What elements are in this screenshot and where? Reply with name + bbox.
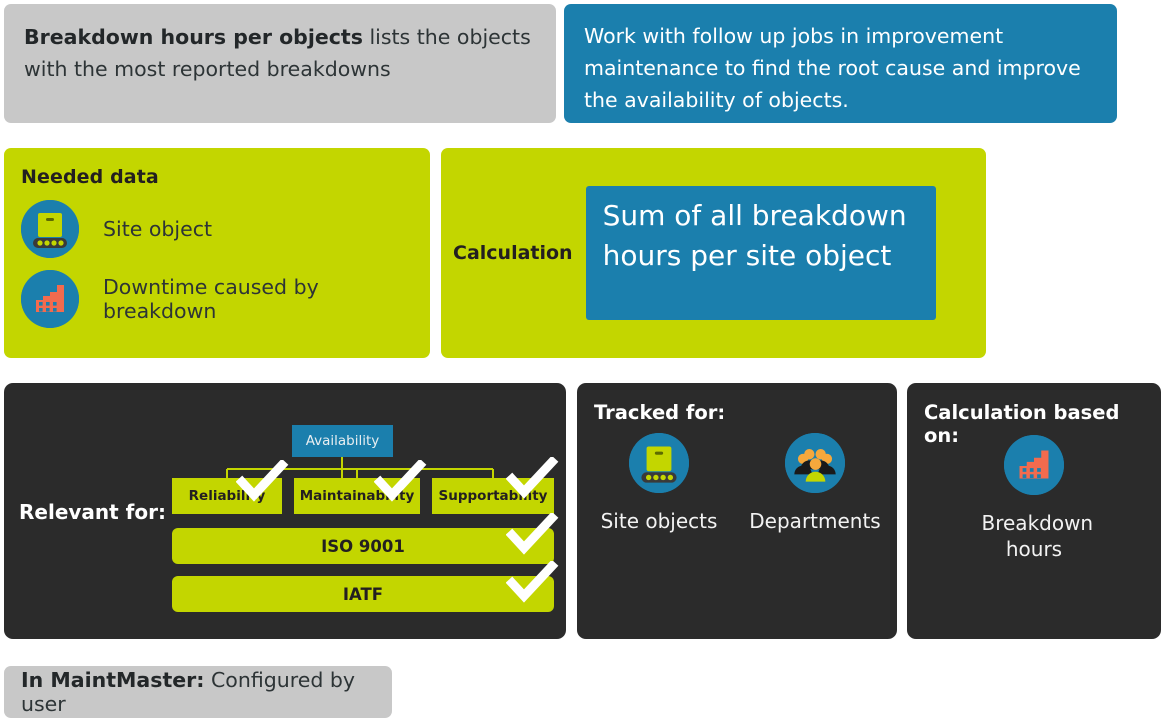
calculation-panel: Calculation Sum of all breakdown hours p… [441,148,986,358]
tracked-item-site-objects: Site objects [600,433,718,534]
definition-panel: Breakdown hours per objects lists the ob… [4,4,556,123]
maintmaster-footer-text: In MaintMaster: Configured by user [21,668,392,716]
calc-based-item-label: Breakdown hours [982,510,1087,562]
data-calculation-row: Needed data Site object [0,148,1165,358]
calculation-based-on-panel: Calculation based on: Breakdown hou [907,383,1161,639]
advice-text: Work with follow up jobs in improvement … [584,20,1097,116]
factory-icon [21,270,79,328]
relevant-for-label: Relevant for: [19,500,166,524]
intro-row: Breakdown hours per objects lists the ob… [0,0,1165,131]
footer-row: In MaintMaster: Configured by user [0,666,1165,722]
needed-data-panel: Needed data Site object [4,148,430,358]
needed-data-title: Needed data [21,166,430,188]
site-object-icon [629,433,689,493]
definition-text: Breakdown hours per objects lists the ob… [24,21,536,85]
site-object-icon [21,200,79,258]
details-row: Relevant for: Availability Reliability M… [0,383,1165,639]
needed-data-item-label: Site object [103,217,212,241]
needed-data-item-label: Downtime caused by breakdown [103,275,430,323]
tracked-for-items: Site objects [577,433,897,534]
calculation-formula: Sum of all breakdown hours per site obje… [586,186,936,320]
tracked-for-panel: Tracked for: Site objects [577,383,897,639]
tracked-item-label: Departments [749,508,880,534]
standard-bar-iatf: IATF [172,576,554,612]
calc-based-item-breakdown-hours: Breakdown hours [975,435,1093,562]
needed-data-item-downtime: Downtime caused by breakdown [21,270,430,328]
availability-tree: Availability Reliability Maintainability… [164,425,554,605]
departments-icon [785,433,845,493]
tree-node-reliability: Reliability [172,478,282,514]
maintmaster-footer-bold: In MaintMaster: [21,668,204,692]
maintmaster-footer-panel: In MaintMaster: Configured by user [4,666,392,718]
relevant-for-panel: Relevant for: Availability Reliability M… [4,383,566,639]
calculation-label: Calculation [453,242,573,264]
tree-node-supportability: Supportability [432,478,554,514]
definition-term: Breakdown hours per objects [24,25,363,49]
factory-icon [1004,435,1064,495]
tracked-for-title: Tracked for: [594,401,725,424]
advice-panel: Work with follow up jobs in improvement … [564,4,1117,123]
calculation-based-on-items: Breakdown hours [907,435,1161,562]
needed-data-item-site-object: Site object [21,200,430,258]
tree-node-maintainability: Maintainability [294,478,420,514]
tracked-item-departments: Departments [756,433,874,534]
tracked-item-label: Site objects [601,508,718,534]
tree-node-availability: Availability [292,425,393,457]
standard-bar-iso-9001: ISO 9001 [172,528,554,564]
